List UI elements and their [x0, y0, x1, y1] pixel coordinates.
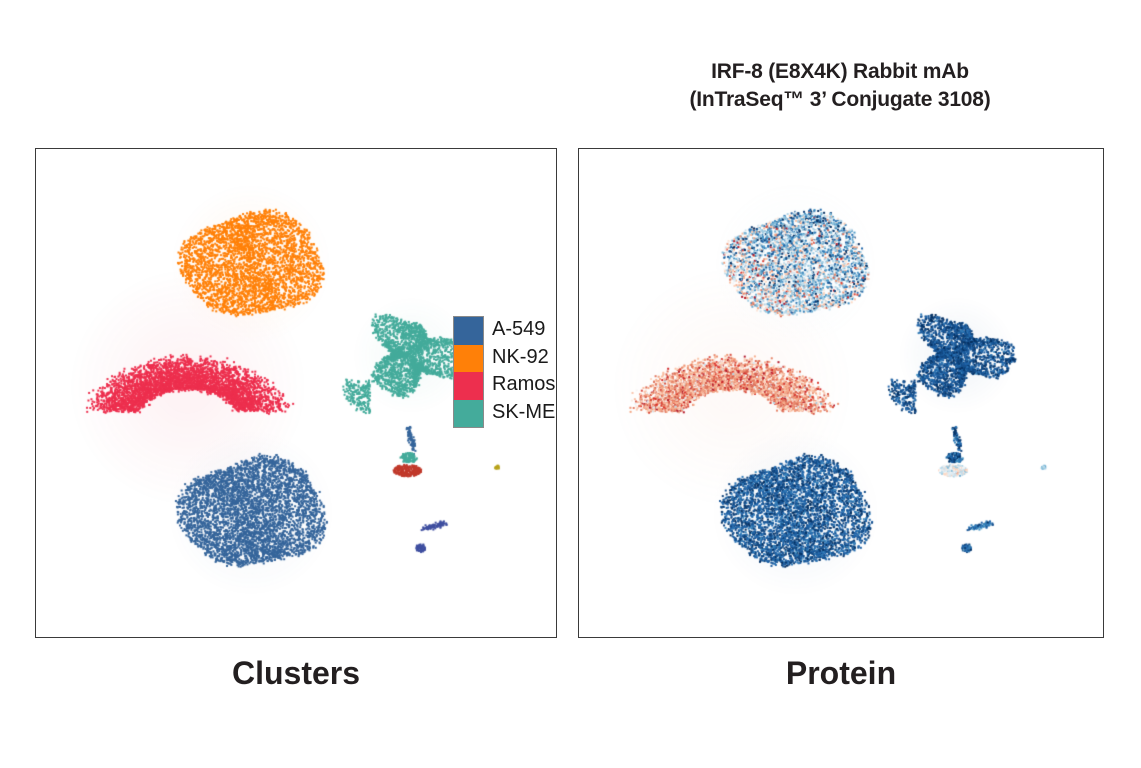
- legend-label-ramos: Ramos: [492, 371, 557, 399]
- figure-title: IRF-8 (E8X4K) Rabbit mAb (InTraSeq™ 3’ C…: [585, 58, 1095, 114]
- legend-swatch-a549[interactable]: [454, 317, 483, 345]
- figure-root: IRF-8 (E8X4K) Rabbit mAb (InTraSeq™ 3’ C…: [0, 0, 1141, 768]
- legend-label-column: A-549 NK-92 Ramos SK-MEL-2: [492, 316, 557, 426]
- legend-label-nk92: NK-92: [492, 344, 557, 372]
- clusters-caption: Clusters: [35, 655, 557, 692]
- legend-label-skmel2: SK-MEL-2: [492, 399, 557, 427]
- legend-swatch-skmel2[interactable]: [454, 400, 483, 428]
- title-line-2: (InTraSeq™ 3’ Conjugate 3108): [585, 86, 1095, 114]
- legend-label-a549: A-549: [492, 316, 557, 344]
- legend-swatch-ramos[interactable]: [454, 372, 483, 400]
- legend-swatch-column: [453, 316, 484, 428]
- clusters-panel: A-549 NK-92 Ramos SK-MEL-2: [35, 148, 557, 638]
- protein-scatter-canvas: [579, 149, 1104, 638]
- protein-panel: 1.251.000.750.500.25: [578, 148, 1104, 638]
- cell-line-legend: A-549 NK-92 Ramos SK-MEL-2: [453, 316, 557, 428]
- title-line-1: IRF-8 (E8X4K) Rabbit mAb: [585, 58, 1095, 86]
- protein-caption: Protein: [578, 655, 1104, 692]
- legend-swatch-nk92[interactable]: [454, 345, 483, 373]
